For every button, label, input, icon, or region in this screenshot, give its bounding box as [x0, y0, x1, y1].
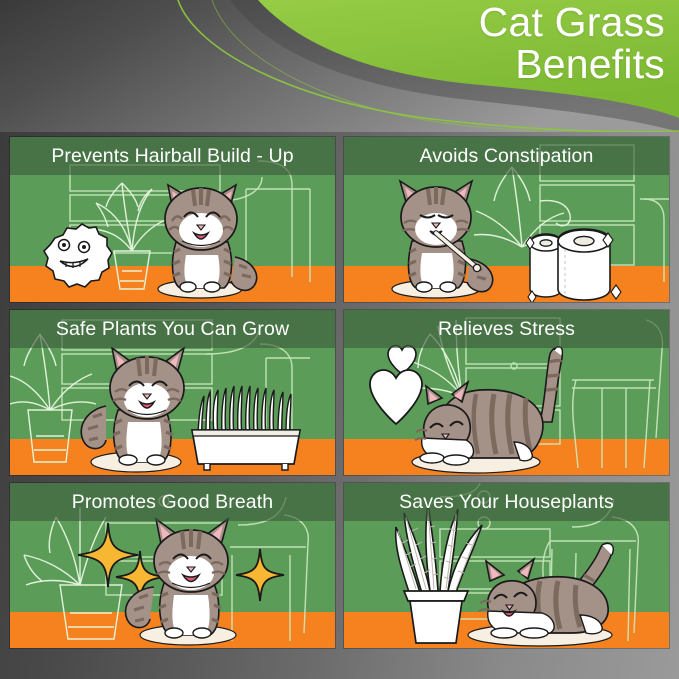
page-title: Cat Grass Benefits [245, 2, 665, 86]
card-title-promotes-good-breath: Promotes Good Breath [10, 483, 335, 521]
card-title-relieves-stress: Relieves Stress [344, 310, 669, 348]
card-title-saves-your-houseplants: Saves Your Houseplants [344, 483, 669, 521]
page-title-line-1: Cat Grass [245, 2, 665, 44]
card-title-prevents-hairball-build-up: Prevents Hairball Build - Up [10, 137, 335, 175]
page-title-line-2: Benefits [245, 44, 665, 86]
benefit-card-promotes-good-breath[interactable]: Promotes Good Breath [10, 483, 335, 648]
infographic-canvas: Cat Grass Benefits [0, 0, 679, 679]
benefit-card-safe-plants-you-can-grow[interactable]: Safe Plants You Can Grow [10, 310, 335, 475]
benefit-card-relieves-stress[interactable]: Relieves Stress [344, 310, 669, 475]
benefits-grid: Prevents Hairball Build - Up [10, 137, 669, 648]
card-title-safe-plants-you-can-grow: Safe Plants You Can Grow [10, 310, 335, 348]
header-banner: Cat Grass Benefits [0, 0, 679, 132]
benefit-card-prevents-hairball-build-up[interactable]: Prevents Hairball Build - Up [10, 137, 335, 302]
toilet-paper-rolls [530, 229, 610, 300]
benefit-card-saves-your-houseplants[interactable]: Saves Your Houseplants [344, 483, 669, 648]
card-title-avoids-constipation: Avoids Constipation [344, 137, 669, 175]
benefit-card-avoids-constipation[interactable]: Avoids Constipation [344, 137, 669, 302]
